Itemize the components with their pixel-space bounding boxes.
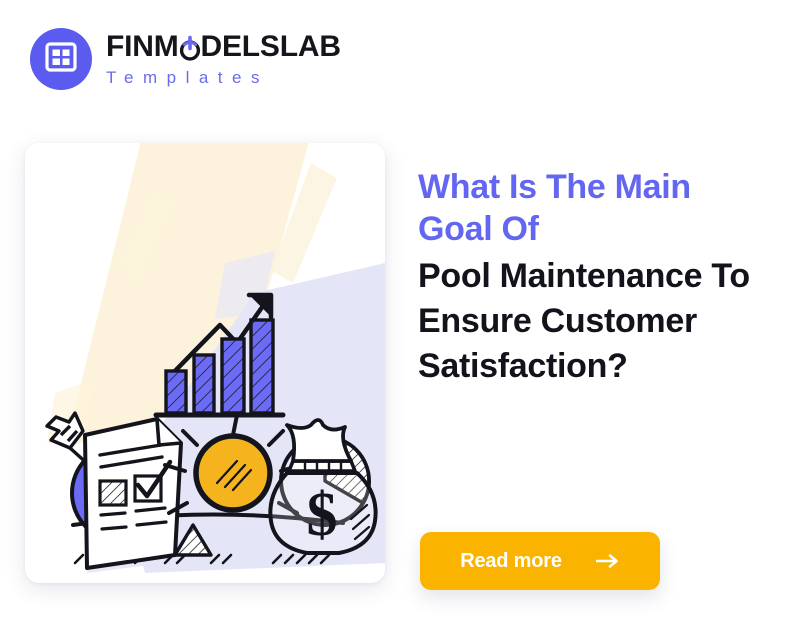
logo-mark bbox=[30, 28, 92, 90]
power-symbol-o-icon bbox=[179, 35, 201, 61]
brand-name-part1: FINM bbox=[106, 32, 179, 62]
grid-squares-icon bbox=[45, 42, 77, 77]
brand-name: FINM DELSLAB bbox=[106, 32, 341, 62]
checklist-document bbox=[85, 419, 181, 568]
brand-name-part2: DELSLAB bbox=[201, 32, 341, 62]
illustration-card: $ bbox=[25, 143, 385, 583]
page-title: Pool Maintenance To Ensure Customer Sati… bbox=[418, 254, 768, 389]
brand-tagline: Templates bbox=[106, 69, 341, 86]
arrow-right-icon bbox=[596, 553, 620, 569]
read-more-label: Read more bbox=[460, 550, 562, 573]
business-goals-illustration: $ bbox=[25, 143, 385, 583]
headline-accent: What Is The Main Goal Of bbox=[418, 166, 768, 250]
brand-logo[interactable]: FINM DELSLAB Templates bbox=[30, 28, 341, 90]
brand-text: FINM DELSLAB Templates bbox=[106, 32, 341, 86]
svg-text:$: $ bbox=[307, 481, 338, 549]
read-more-button[interactable]: Read more bbox=[420, 532, 660, 590]
headline-block: What Is The Main Goal Of Pool Maintenanc… bbox=[418, 166, 768, 389]
